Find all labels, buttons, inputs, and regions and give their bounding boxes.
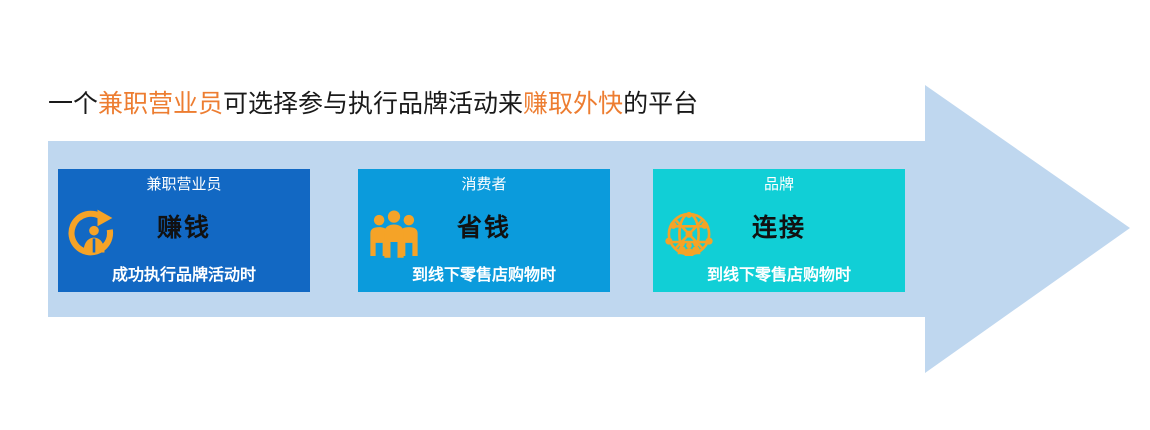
card-part-time-clerk[interactable]: 兼职营业员 赚钱 成功执行品牌活动时	[58, 169, 310, 292]
card-footer-label: 到线下零售店购物时	[653, 265, 905, 287]
card-header-label: 品牌	[653, 175, 905, 195]
title-segment-highlight-1: 兼职营业员	[98, 91, 223, 118]
card-main-label: 连接	[653, 213, 905, 245]
page-title: 一个兼职营业员可选择参与执行品牌活动来赚取外快的平台	[48, 88, 698, 122]
title-segment-highlight-2: 赚取外快	[523, 91, 623, 118]
card-brand[interactable]: 品牌	[653, 169, 905, 292]
card-header-label: 消费者	[358, 175, 610, 195]
title-segment-plain-2: 可选择参与执行品牌活动来	[223, 91, 523, 118]
card-main-label: 赚钱	[58, 213, 310, 245]
card-main-label: 省钱	[358, 213, 610, 245]
card-footer-label: 到线下零售店购物时	[358, 265, 610, 287]
card-footer-label: 成功执行品牌活动时	[58, 265, 310, 287]
title-segment-plain-3: 的平台	[623, 91, 698, 118]
diagram-canvas: 一个兼职营业员可选择参与执行品牌活动来赚取外快的平台 兼职营业员 赚钱 成功执行…	[0, 0, 1150, 430]
card-header-label: 兼职营业员	[58, 175, 310, 195]
card-consumer[interactable]: 消费者 省钱 到线下零售店购物时	[358, 169, 610, 292]
title-segment-plain-1: 一个	[48, 91, 98, 118]
